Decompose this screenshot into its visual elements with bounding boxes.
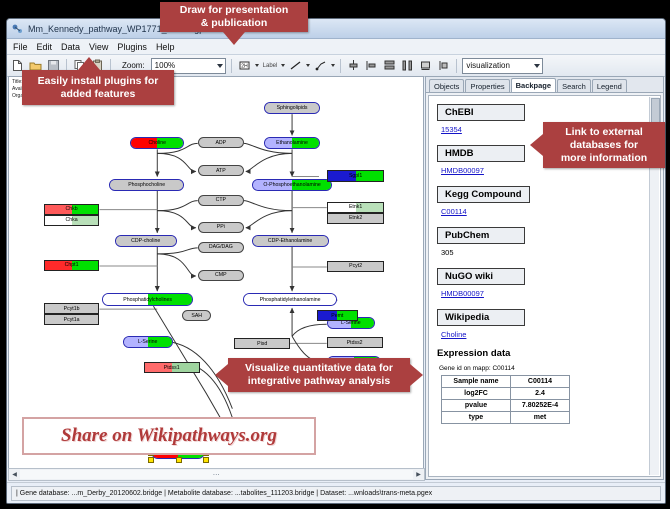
tab-backpage[interactable]: Backpage [511,78,556,92]
gene-node-pcyt2[interactable]: Pcyt2 [327,261,385,272]
table-cell: 2.4 [511,388,570,400]
node-label: SAH [191,313,202,319]
node-label: L-Serine [138,339,158,345]
table-cell: Sample name [442,376,511,388]
metabolite-node-o-phosphoethanolamine[interactable]: O-Phosphoethanolamine [252,179,333,191]
node-label: CMP [215,272,227,278]
node-label: CDP-Ethanolamine [268,238,312,244]
menu-view[interactable]: View [89,42,108,52]
stack-icon[interactable] [382,58,397,73]
selection-handle[interactable] [176,457,182,463]
gene-node-etnk2[interactable]: Etnk2 [327,213,385,224]
metabolite-node-cdp-choline[interactable]: CDP-choline [115,235,177,247]
toolbar-divider-3 [231,59,232,73]
side-panel-tabs[interactable]: ObjectsPropertiesBackpageSearchLegend [426,77,663,93]
node-label: Phosphocholine [128,182,165,188]
toolbar-divider-4 [340,59,341,73]
menu-bar: File Edit Data View Plugins Help [7,39,665,55]
align-icon[interactable] [346,58,361,73]
backpage-value-nugo-wiki[interactable]: HMDB00097 [441,289,660,298]
metabolite-node-choline-top[interactable]: Choline [130,137,184,149]
node-label: ATP [216,168,226,174]
zoom-value: 100% [155,61,175,70]
node-label: Pcyt2 [349,263,362,269]
table-row: pvalue7.80252E-4 [442,400,570,412]
metabolite-node-cdp-ethanolamine[interactable]: CDP-Ethanolamine [252,235,329,247]
gene-node-ptdss2[interactable]: Ptdss2 [327,337,383,348]
pathvisio-icon [11,23,23,35]
node-label: Pcyt1a [64,317,80,323]
table-row: typemet [442,412,570,424]
backpage-value-kegg-compound[interactable]: C00114 [441,207,660,216]
cofactor-node-dagdag[interactable]: DAG/DAG [198,242,244,253]
gene-node-sgpl1[interactable]: Sgpl1 [327,170,385,181]
node-label: Etnk1 [349,204,362,210]
selection-handle[interactable] [148,457,154,463]
node-label: Pcyt1b [64,306,80,312]
metabolite-node-sphingolipids[interactable]: Sphingolipids [264,102,320,114]
line-icon[interactable] [288,58,303,73]
gene-node-pcyt1b[interactable]: Pcyt1b [44,303,100,314]
databases-dropdown-icon[interactable] [255,64,259,67]
backpage-heading-nugo-wiki: NuGO wiki [437,268,525,285]
node-label: ADP [215,140,226,146]
chevron-down-icon [217,64,223,68]
cofactor-node-cmp[interactable]: CMP [198,270,244,281]
gene-node-etnk1[interactable]: Etnk1 [327,202,385,213]
toolbar-divider-5 [456,59,457,73]
table-row: log2FC2.4 [442,388,570,400]
metabolite-node-phosphocholine[interactable]: Phosphocholine [109,179,184,191]
callout-draw-arrow [223,32,245,45]
status-bar-inner: | Gene database: ...m_Derby_20120602.bri… [11,486,661,501]
node-label: CDP-choline [131,238,160,244]
visualization-combo[interactable]: visualization [462,58,543,74]
menu-plugins[interactable]: Plugins [117,42,147,52]
gene-node-chkb[interactable]: Chkb [44,204,100,215]
title-bar: Mm_Kennedy_pathway_WP1771_45176.gpml [7,19,665,39]
callout-quantitative: Visualize quantitative data forintegrati… [228,358,410,392]
interaction-dropdown-icon[interactable] [331,64,335,67]
table-cell: log2FC [442,388,511,400]
backpage-heading-kegg-compound: Kegg Compound [437,186,530,203]
label-dropdown-icon[interactable] [281,64,285,67]
tab-properties[interactable]: Properties [465,79,509,92]
menu-help[interactable]: Help [156,42,175,52]
node-label: Chkb [66,206,78,212]
tab-search[interactable]: Search [557,79,591,92]
group-icon[interactable] [364,58,379,73]
node-label: Phosphatidylcholines [123,297,172,303]
status-text: | Gene database: ...m_Derby_20120602.bri… [16,490,432,497]
expression-data-title: Expression data [437,348,660,359]
backpage-value-wikipedia[interactable]: Choline [441,330,660,339]
node-label: Phosphatidylethanolamine [260,297,321,303]
selection-handle[interactable] [203,457,209,463]
callout-links: Link to externaldatabases formore inform… [543,122,665,168]
table-cell: C00114 [511,376,570,388]
callout-links-arrow [530,134,543,156]
status-bar: | Gene database: ...m_Derby_20120602.bri… [7,482,665,503]
node-label: PPi [217,224,225,230]
metabolite-node-ethanolamine-top[interactable]: Ethanolamine [264,137,320,149]
gene-node-pcyt1a[interactable]: Pcyt1a [44,314,100,325]
tab-legend[interactable]: Legend [592,79,627,92]
cofactor-node-sah[interactable]: SAH [182,310,211,321]
table-row: Sample nameC00114 [442,376,570,388]
cofactor-node-adp[interactable]: ADP [198,137,244,148]
node-label: CTP [216,197,226,203]
node-label: DAG/DAG [209,244,233,250]
callout-plugins: Easily install plugins foradded features [22,70,174,105]
interaction-icon[interactable] [313,58,328,73]
table-cell: pvalue [442,400,511,412]
zoom-label: Zoom: [122,61,145,70]
screenshot-root: Mm_Kennedy_pathway_WP1771_45176.gpml Fil… [0,0,670,509]
callout-quantitative-arrow [215,364,228,386]
node-label: Chka [66,217,78,223]
gene-node-pemt[interactable]: Pemt [317,310,357,321]
tab-objects[interactable]: Objects [429,79,464,92]
gene-node-pisd[interactable]: Pisd [234,338,290,349]
backpage-value-pubchem: 305 [441,248,660,257]
node-label: Etnk2 [349,215,362,221]
node-label: Sphingolipids [277,105,308,111]
svg-text:2H: 2H [241,63,248,69]
metabolite-node-phosphatidylcholines[interactable]: Phosphatidylcholines [102,293,193,306]
cofactor-node-ppi[interactable]: PPi [198,222,244,233]
callout-quantitative-arrow-right [410,364,423,386]
databases-icon[interactable]: 2H [237,58,252,73]
callout-plugins-arrow [78,57,100,70]
metabolite-node-phosphatidylethanolamine[interactable]: Phosphatidylethanolamine [243,293,337,306]
gene-node-chka[interactable]: Chka [44,215,100,226]
distribute-icon[interactable] [400,58,415,73]
node-label: Pisd [257,341,267,347]
order-icon[interactable] [418,58,433,73]
gene-node-ptdss1[interactable]: Ptdss1 [144,362,200,373]
layer-icon[interactable] [436,58,451,73]
table-cell: met [511,412,570,424]
backpage-heading-hmdb: HMDB [437,145,525,162]
line-dropdown-icon[interactable] [306,64,310,67]
cofactor-node-ctp[interactable]: CTP [198,195,244,206]
node-label: Choline [148,140,166,146]
backpage-heading-pubchem: PubChem [437,227,525,244]
node-label: Chpt1 [65,262,79,268]
label-tool-label: Label [263,63,278,69]
cofactor-node-atp[interactable]: ATP [198,165,244,176]
callout-share: Share on Wikipathways.org [22,417,316,455]
callout-draw: Draw for presentation& publication [160,2,308,32]
gene-node-chpt1[interactable]: Chpt1 [44,260,100,271]
backpage-heading-chebi: ChEBI [437,104,525,121]
table-cell: 7.80252E-4 [511,400,570,412]
visualization-value: visualization [466,61,510,70]
share-text: Share on Wikipathways.org [61,425,277,447]
node-label: Sgpl1 [349,173,362,179]
node-label: O-Phosphoethanolamine [263,182,320,188]
backpage-heading-wikipedia: Wikipedia [437,309,525,326]
menu-file[interactable]: File [13,42,28,52]
expression-table: Sample nameC00114log2FC2.4pvalue7.80252E… [441,375,570,424]
gene-id-line: Gene id on mapp: C00114 [439,365,660,372]
node-label: Ptdss1 [164,365,180,371]
chevron-down-icon [534,64,540,68]
metabolite-node-l-serine-left[interactable]: L-Serine [123,336,173,348]
menu-data[interactable]: Data [61,42,80,52]
node-label: Pemt [331,313,343,319]
menu-edit[interactable]: Edit [37,42,53,52]
node-label: Ethanolamine [276,140,308,146]
table-cell: type [442,412,511,424]
node-label: Ptdss2 [347,340,363,346]
